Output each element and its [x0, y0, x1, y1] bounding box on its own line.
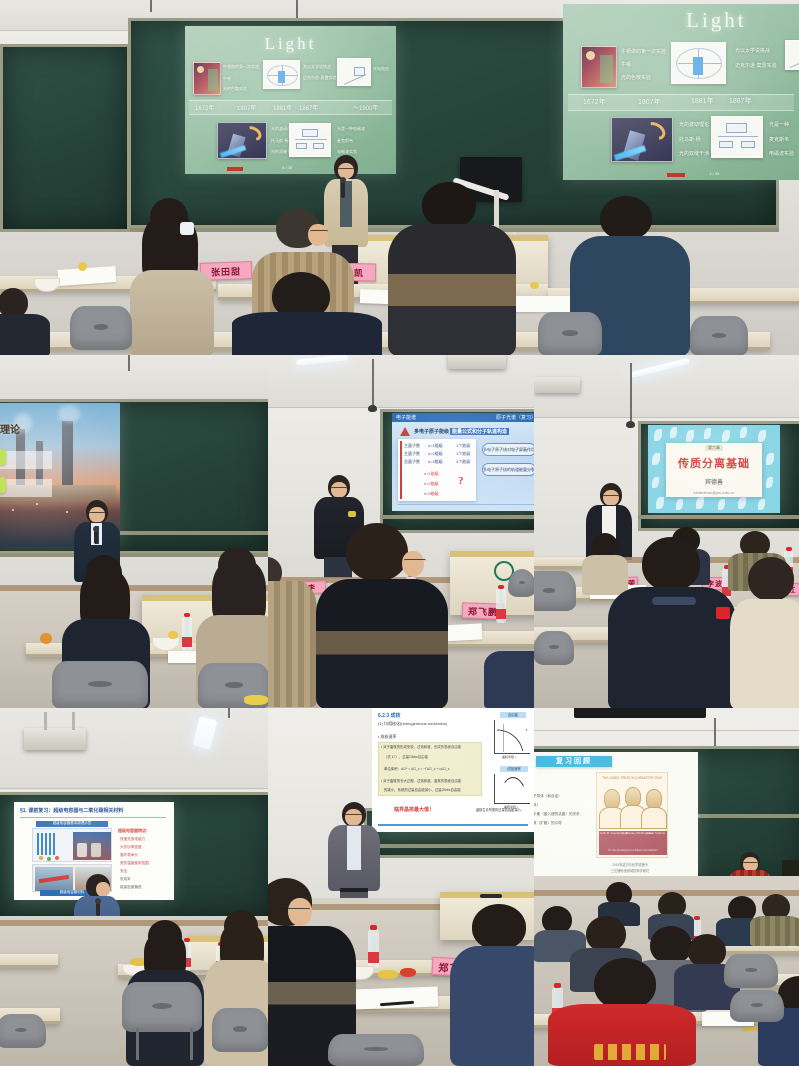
ceiling-edge	[534, 417, 799, 418]
laureate-motivation: "for the development of lithium-ion batt…	[599, 849, 667, 852]
attendee-body	[608, 587, 736, 708]
desk-row	[0, 954, 58, 968]
laureate-name: M. Stanley Whittingham	[621, 832, 644, 835]
slide-pill: 多电子原子核的轨道能量分裂	[482, 463, 534, 476]
attendee-head	[346, 523, 408, 581]
photo-collage: Light 1672年 1807年 1881年 1887年 ～1900年 牛顿做…	[0, 0, 799, 1066]
projector-mount	[72, 712, 75, 730]
microphone	[94, 530, 98, 544]
ceiling-wire	[372, 359, 374, 407]
attendee	[316, 523, 448, 708]
chair	[0, 1014, 46, 1048]
slide-heading: 6.2.3 成核	[378, 712, 401, 719]
chair	[724, 954, 778, 988]
attendee-face	[308, 224, 328, 246]
slide-heading: §1. 课前复习：超级电容器与二氧化碳相关材料	[20, 807, 123, 814]
chart-axis-label: 晶核半径 r	[502, 755, 516, 759]
slide-email: bindezhan@jnu.edu.cn	[694, 490, 735, 495]
ceiling-wire	[630, 363, 632, 421]
projector	[534, 377, 580, 393]
glasses-icon	[345, 814, 362, 817]
slide-page-number: 4 / 35	[282, 165, 292, 170]
slide-caption: 光的波动理论	[679, 121, 709, 128]
glasses-icon	[282, 908, 310, 911]
attendee	[124, 198, 220, 355]
slide-bullet: • 材料的离子扩散系数（扩散）的引导	[534, 821, 562, 826]
chair	[122, 982, 202, 1032]
slide-subheading: • 成核速率	[378, 734, 397, 740]
collage-panel-6: 6.2.3 成核 (1) 均相核化(homogeneous nucleation…	[268, 708, 534, 1066]
slide-footer: 4 / 35	[563, 172, 799, 178]
slide-button: 现象和理论	[0, 449, 6, 465]
slide-caption: 牛顿	[621, 61, 631, 68]
glasses-icon	[331, 487, 347, 490]
slide-thumbnail-maxwell	[289, 123, 331, 157]
chart-axes	[494, 720, 530, 754]
slide-page-number: 4 / 35	[709, 171, 719, 176]
printed-paper	[512, 296, 570, 312]
presenter-face	[89, 507, 105, 523]
slide-caption: 2019年诺贝尔化学奖授予	[590, 862, 670, 867]
collage-panel-4: 第六章 传质分离基础 宾德善 bindezhan@jnu.edu.cn	[534, 355, 799, 708]
microphone-head	[95, 898, 101, 904]
lecturer-shirt	[347, 826, 361, 870]
collage-panel-2: 现象和理论 现象和理论 计算与模拟	[0, 355, 268, 708]
jacket-accent	[348, 511, 356, 517]
red-row: n=2能级	[424, 481, 439, 487]
microphone	[341, 182, 345, 198]
slide-bullet: • 材料（化合物的晶体）	[534, 803, 540, 808]
red-row: n=1能级	[424, 471, 439, 477]
slide-header-plain: 多电子原子能级：	[414, 428, 454, 435]
chair	[534, 631, 574, 665]
chart-axis-label: 晶核半径 r	[504, 805, 518, 809]
attendee-head	[748, 557, 794, 601]
collar	[652, 597, 696, 605]
chart-axes	[494, 774, 530, 804]
chair-leg	[190, 1028, 193, 1060]
attendee-head	[642, 537, 700, 591]
chair	[508, 569, 534, 597]
slide-caption: 电磁波实验	[769, 150, 794, 157]
chair	[730, 990, 784, 1022]
projection-screen: 电子能谱 原子光谱（复习） 多电子原子能级： 能量公式和分子轨道构造 主量子数 …	[392, 413, 534, 511]
attendee-body	[316, 579, 448, 708]
slide-inner-card: 第六章 传质分离基础 宾德善 bindezhan@jnu.edu.cn	[666, 443, 762, 497]
slide-caption: 光的双缝干涉	[679, 150, 709, 157]
projector	[448, 355, 506, 369]
slide-caption: 牛顿	[223, 76, 231, 82]
table-cell: n=2能级	[428, 451, 443, 457]
slide-footer-rule	[398, 504, 534, 505]
attendee-face	[288, 898, 312, 926]
projection-screen: 第六章 传质分离基础 宾德善 bindezhan@jnu.edu.cn	[648, 425, 780, 513]
logo-icon	[400, 427, 410, 436]
slide-topbar-left: 电子能谱	[396, 414, 416, 421]
laureate-name-band: John B. Goodenough M. Stanley Whittingha…	[599, 831, 667, 855]
slide-image-supercapacitor	[32, 828, 112, 862]
slide-presenter: 宾德善	[705, 477, 723, 486]
fruit	[378, 970, 398, 979]
slide-bullet: • 电极材料的热力学平衡（嵌入锂的活度）的关系	[534, 812, 580, 817]
table-cell: 4个能级	[456, 459, 470, 465]
timeline-year: ～1900年	[353, 103, 378, 112]
table-cell: 1个能级	[456, 451, 470, 457]
collage-panel-5: §1. 课前复习：超级电容器与二氧化碳相关材料 超级电容器基本原理示意	[0, 708, 268, 1066]
attendee-head	[422, 182, 476, 228]
slide-title: Light	[634, 8, 799, 33]
slide-caption: 麦克斯韦	[769, 136, 789, 143]
collage-panel-7: 复习回顾 • 电池的基本组成 • 电池的反应方式 • 电极反应的混合离子导体（和…	[534, 708, 799, 1066]
slide-caption: 光是一种电磁波	[337, 126, 365, 132]
lecturer-face	[603, 490, 619, 506]
laureate-portrait	[604, 789, 620, 809]
lecturer-face	[345, 809, 362, 826]
bullet-item: 宽的温度使用范围	[120, 861, 149, 866]
chair	[690, 316, 748, 355]
bullet-item: 大的功率密度	[120, 845, 142, 850]
slide-caption: 光以太学说挑战	[303, 64, 331, 70]
slide-footer-rule	[378, 824, 528, 826]
water-bottle	[182, 617, 192, 651]
timeline-year: 1887年	[299, 103, 318, 112]
slide-caption: 迈克尔逊·莫雷实验	[303, 75, 336, 81]
glasses-icon	[743, 862, 758, 865]
ceiling-wire	[228, 708, 230, 718]
chair	[328, 1034, 424, 1066]
slide-thumbnail-interferometer	[671, 42, 726, 84]
slide-image-caption: 超级电容器基本原理示意	[36, 821, 108, 827]
chair	[538, 312, 602, 355]
projection-screen-right: Light 1672年 1807年 1881年 1887年 牛顿做的第一次实验 …	[563, 4, 799, 180]
nobel-card-title: THE NOBEL PRIZE IN CHEMISTRY 2019	[597, 776, 667, 780]
slide-title-blue: 基础	[726, 458, 750, 470]
slide-caption: 麦克斯韦	[337, 138, 353, 144]
presenter-face	[331, 482, 347, 498]
attendee-head	[594, 958, 656, 1010]
timeline-year: 1881年	[273, 103, 292, 112]
attendee	[450, 904, 534, 1066]
attendee-body	[388, 224, 516, 355]
attendee	[232, 272, 382, 355]
ceiling-edge	[534, 730, 799, 731]
glasses-icon	[89, 512, 105, 515]
box-line: 的减小、系统的过量自由能减小、过量Gibbs自由能	[384, 787, 461, 792]
attendee-body	[730, 599, 799, 708]
projection-screen-left: Light 1672年 1807年 1881年 1887年 ～1900年 牛顿做…	[185, 26, 396, 174]
bullet-item: 快速充放电能力	[120, 837, 145, 842]
laureate-name: Akira Yoshino	[646, 832, 666, 835]
attendee-drinking	[730, 557, 799, 708]
attendee	[484, 651, 534, 708]
slide-caption: 光是一种	[769, 121, 789, 128]
attendee-head	[600, 196, 652, 240]
collage-panel-1: Light 1672年 1807年 1881年 1887年 ～1900年 牛顿做…	[0, 0, 799, 355]
attendee	[388, 182, 516, 355]
slide-thumbnail-newton	[581, 46, 617, 88]
laureate-portrait	[646, 789, 662, 809]
slide-bullet: • 电极反应的混合离子导体（和合金）	[534, 794, 562, 799]
camera-icon	[626, 421, 635, 428]
slide-kicker: 第六章	[705, 445, 723, 451]
slide-title-red: 传质分离	[678, 458, 726, 470]
water-bottle	[368, 930, 379, 968]
box-line: • 对于晶核的长大过程，过饱和度、晶核的表面自由能	[381, 778, 461, 783]
accent-rule	[400, 441, 402, 499]
slide-caption: 迈克尔逊·莫雷实验	[735, 62, 777, 69]
timeline-year: 1672年	[583, 97, 606, 107]
glasses-icon	[338, 168, 354, 171]
attendee-body	[0, 314, 50, 355]
slide-thumbnail-prism	[611, 117, 673, 162]
table-cell: 1个能级	[456, 443, 470, 449]
slide-caption: 光的色散实验	[621, 74, 651, 81]
collage-panel-3: 电子能谱 原子光谱（复习） 多电子原子能级： 能量公式和分子轨道构造 主量子数 …	[268, 355, 534, 708]
attendee-body	[130, 270, 214, 355]
slide-thumbnail-photoelectric	[785, 40, 799, 70]
microphone	[96, 902, 100, 916]
chart-caption: 成核速率	[500, 766, 528, 772]
chalkboard-rail	[638, 515, 799, 519]
attendee	[750, 894, 799, 946]
attendee-body	[268, 581, 318, 707]
slide-button: 计算与模拟	[0, 477, 6, 493]
water-bottle	[496, 589, 506, 623]
ceiling-wire	[128, 355, 130, 371]
slide-caption: 光的色散实验	[223, 86, 247, 92]
attendee-body	[750, 916, 799, 946]
ceiling-edge	[0, 788, 268, 789]
table-cell: 总量子数	[404, 459, 420, 465]
chair	[52, 661, 148, 708]
table-cell: 主量子数	[404, 451, 420, 457]
box-line: 单位体积：ΔG* = ΔG_v = −ΓΔG_v + γΔG_s	[384, 766, 449, 771]
timeline-year: 1807年	[638, 97, 661, 107]
timeline-year: 1807年	[237, 103, 256, 112]
slide-thumbnail-maxwell	[711, 116, 763, 158]
chair-leg	[136, 1028, 139, 1060]
attendee	[608, 537, 736, 708]
attendee-body	[232, 312, 382, 355]
chalkboard-left-wing	[0, 44, 130, 232]
presenter-face	[96, 882, 110, 897]
fruit	[530, 282, 539, 289]
chalkboard-rail	[364, 844, 534, 848]
attendee	[0, 288, 60, 355]
projection-screen: 6.2.3 成核 (1) 均相核化(homogeneous nucleation…	[372, 708, 534, 832]
slide-caption: 牛顿做的第一次实验	[621, 48, 666, 55]
attendee-head	[472, 904, 526, 950]
question-mark: ?	[458, 475, 464, 487]
chair	[70, 306, 132, 350]
slide-pill: 多电子原子核对电子屏蔽作用	[482, 443, 534, 456]
jacket-text	[594, 1044, 666, 1060]
slide-thumbnail-photoelectric	[337, 58, 371, 86]
chart-caption: 自由能	[500, 712, 526, 718]
laureate-name: John B. Goodenough	[600, 832, 620, 835]
timeline-year: 1881年	[691, 96, 714, 106]
ceiling-beam	[574, 708, 706, 718]
laureate-shoulders	[641, 807, 667, 829]
table-cell: n=3能级	[428, 459, 443, 465]
slide-emphasis: 临界晶核最大值！	[394, 806, 434, 813]
microphone-head	[340, 177, 346, 183]
red-row: n=3能级	[424, 491, 439, 497]
laureate-portrait	[625, 787, 641, 807]
cup	[716, 607, 730, 619]
slide-thumbnail-interferometer	[263, 60, 300, 89]
bullet-item: 循环寿命长	[120, 853, 138, 858]
slide-caption: 三位锂电池领域的科学家们	[590, 868, 670, 873]
attendee-red-jacket	[548, 958, 696, 1066]
slide-caption: 光以太学说挑战	[735, 47, 770, 54]
slide-rule	[20, 817, 166, 818]
slide-title: Light	[185, 34, 396, 54]
attendee	[268, 551, 322, 708]
chair	[212, 1008, 268, 1052]
glasses-icon	[404, 559, 426, 562]
bullet-header: 超级电容器特点：	[118, 828, 150, 834]
fruit	[244, 695, 268, 705]
chair	[534, 571, 576, 611]
chalkboard-rail	[380, 515, 534, 519]
fruit	[40, 633, 52, 644]
bullet-item: 能量密度偏低	[120, 885, 142, 890]
table-cell: 主量子数	[404, 443, 420, 449]
glasses-icon	[310, 230, 328, 233]
ceiling	[0, 355, 268, 399]
printed-paper	[352, 987, 439, 1010]
ceiling-wire	[150, 0, 152, 12]
box-line: （式 17）、过量Gibbs自由能	[384, 754, 428, 759]
fruit	[78, 262, 87, 271]
face-mask-icon	[180, 222, 194, 235]
attendee-face	[402, 551, 424, 577]
ceiling-edge	[268, 407, 534, 408]
microphone-head	[93, 526, 99, 532]
slide-caption: 托马斯·杨	[679, 136, 701, 143]
slide-thumbnail-newton	[193, 62, 221, 95]
marker-pen	[480, 894, 502, 898]
timeline-year: 1672年	[195, 103, 214, 112]
timeline-year: 1887年	[729, 96, 752, 106]
fruit	[400, 968, 416, 977]
attendee-head	[586, 916, 626, 952]
slide-caption: 牛顿做的第一次实验	[223, 64, 259, 70]
projector	[24, 728, 86, 750]
projection-screen: 复习回顾 • 电池的基本组成 • 电池的反应方式 • 电极反应的混合离子导体（和…	[534, 752, 698, 882]
table-cell: n=1能级	[428, 443, 443, 449]
box-line: • 对于晶核的形成来说，过饱和度、形成的表面自由能	[381, 744, 461, 749]
camera-icon	[368, 405, 377, 412]
slide-caption: 光电效应	[373, 66, 389, 72]
slide-titlebar: 复习回顾	[536, 756, 612, 767]
slide-header-highlight: 能量公式和分子轨道构造	[450, 428, 509, 435]
fruit	[168, 631, 178, 639]
attendee-body	[484, 651, 534, 708]
slide-subheading: (1) 均相核化(homogeneous nucleation)	[378, 721, 447, 727]
attendee-body	[450, 946, 534, 1066]
glasses-icon	[603, 495, 619, 498]
slide-topbar-right: 原子光谱（复习）	[496, 414, 534, 421]
projector-mount	[44, 712, 47, 730]
slide-thumbnail-prism	[217, 122, 267, 159]
nobel-card: THE NOBEL PRIZE IN CHEMISTRY 2019 John B…	[596, 772, 668, 858]
slide-title: 现象和理论	[0, 421, 20, 436]
slide-caption: 托马斯·杨	[271, 138, 288, 144]
